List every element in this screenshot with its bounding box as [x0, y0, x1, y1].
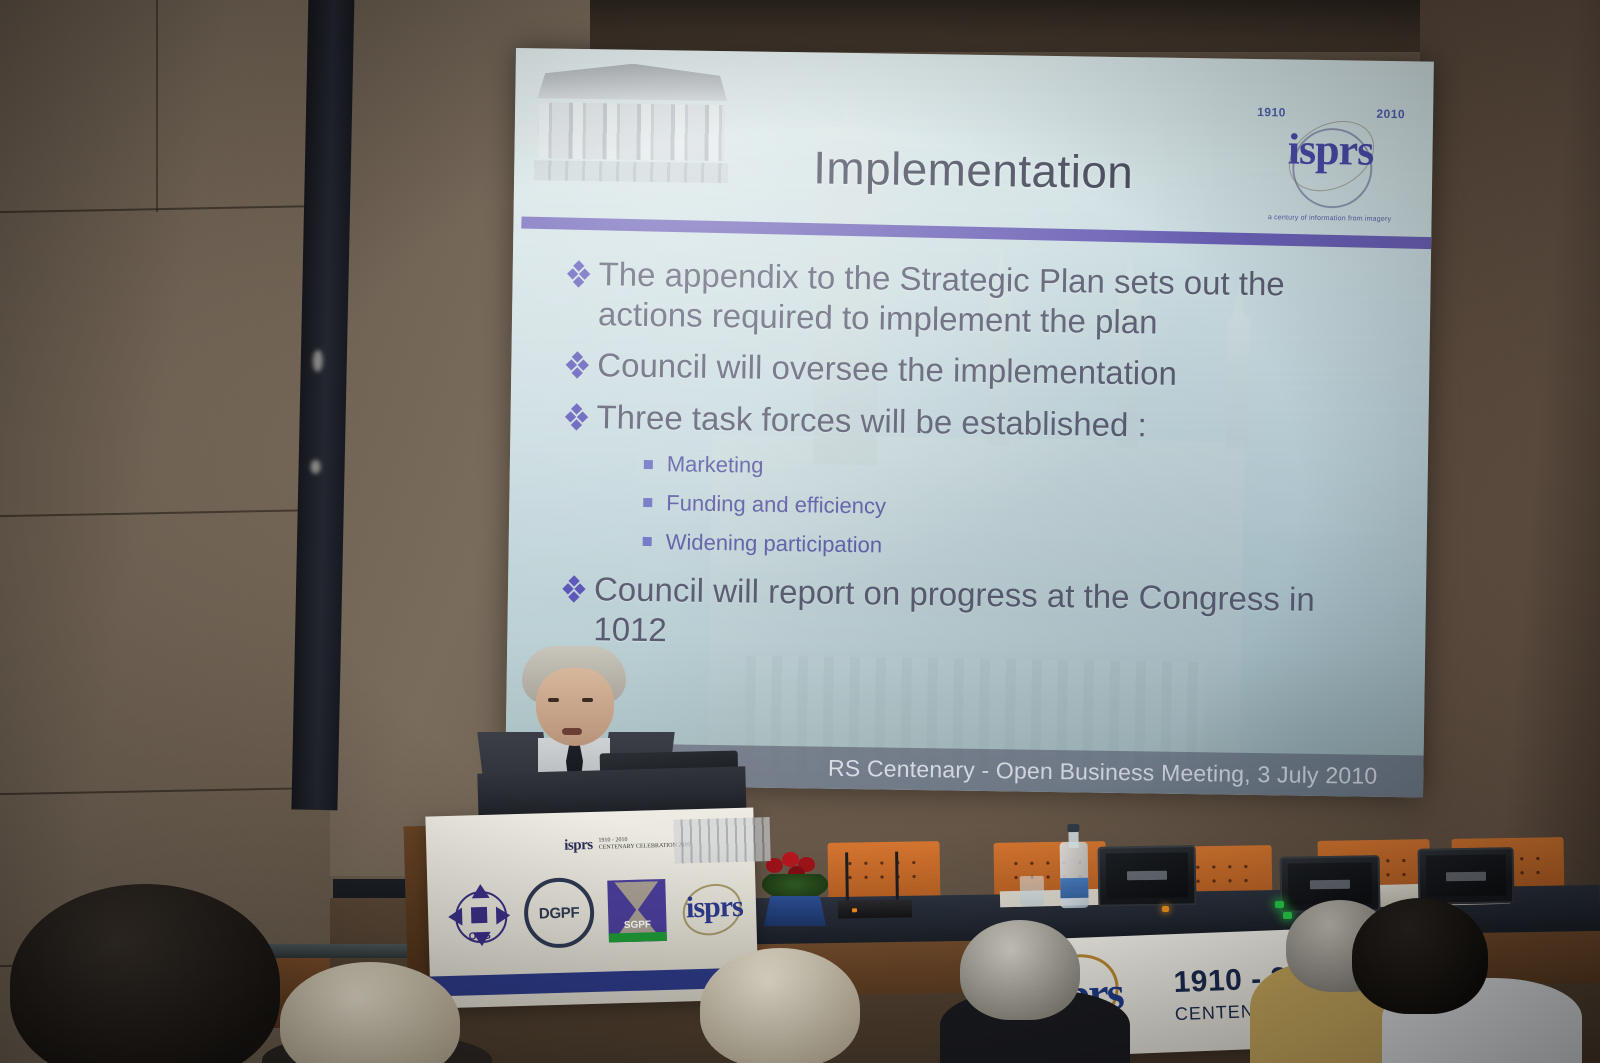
logo-wordmark: isprs [1250, 123, 1411, 176]
square-bullet-icon [643, 537, 652, 546]
water-bottle [1059, 824, 1088, 908]
bullet-text: Council will report on progress at the C… [593, 570, 1392, 661]
audience-head [960, 920, 1080, 1020]
bullet-item: Three task forces will be established : [566, 397, 1394, 449]
sub-bullet-text: Marketing [667, 450, 764, 481]
diamond-bullet-icon [566, 405, 586, 429]
drinking-glass [1020, 876, 1044, 906]
sub-bullet-list: Marketing Funding and efficiency Widenin… [642, 449, 1394, 567]
wall-seam [0, 787, 330, 795]
podium-isprs-wordmark: isprs [564, 836, 593, 854]
receiver-led [852, 908, 857, 912]
eye [548, 698, 559, 702]
ovg-label: OVG [449, 930, 511, 943]
sub-bullet-item: Marketing [644, 449, 1394, 490]
pillar-highlight [313, 350, 323, 372]
slide-body: The appendix to the Strategic Plan sets … [563, 254, 1397, 673]
status-led-green [1283, 912, 1292, 919]
wall-seam [0, 509, 330, 517]
bullet-text: Council will oversee the implementation [597, 345, 1177, 393]
logo-year-start: 1910 [1257, 105, 1286, 119]
square-bullet-icon [644, 460, 653, 469]
sgpf-label: SGPF [608, 919, 666, 932]
bullet-item-final: Council will report on progress at the C… [563, 569, 1392, 660]
sub-bullet-item: Widening participation [642, 527, 1392, 568]
dgpf-logo: DGPF [523, 877, 595, 949]
podium-building-graphic [674, 817, 771, 864]
isprs-podium-wordmark: isprs [686, 890, 744, 926]
sgpf-green-bar [609, 932, 667, 943]
engraving-pediment [537, 62, 728, 101]
wireless-receiver [838, 899, 912, 918]
pillar-highlight [310, 460, 320, 474]
status-led-green [1275, 901, 1284, 908]
sub-bullet-text: Funding and efficiency [666, 488, 886, 521]
laptop [1418, 847, 1515, 905]
ovg-center-square [471, 907, 487, 923]
mouth [562, 728, 582, 735]
isprs-podium-logo: isprs [679, 879, 767, 937]
bottle-body [1060, 842, 1089, 908]
podium-logo-row: OVG DGPF SGPF isprs [447, 870, 749, 954]
podium-isprs-years: 1910 - 2010 [598, 837, 627, 844]
laptop [1098, 845, 1197, 907]
laptop-brand-plate [1127, 871, 1167, 881]
bottle-neck [1068, 830, 1078, 848]
audience-head [700, 948, 860, 1063]
bullet-text: Three task forces will be established : [596, 397, 1147, 445]
flower-arrangement [760, 852, 830, 926]
status-led-amber [1162, 906, 1169, 912]
flower-wrap [764, 896, 826, 926]
wall-groove [156, 0, 158, 212]
bullet-item: Council will oversee the implementation [567, 345, 1395, 397]
bottle-cap [1067, 824, 1079, 832]
ovg-logo: OVG [447, 883, 511, 947]
sub-bullet-text: Widening participation [665, 527, 882, 560]
laptop-brand-plate [1446, 871, 1486, 881]
laptop-lid [1418, 847, 1515, 905]
diamond-bullet-icon [568, 262, 588, 286]
sgpf-logo: SGPF [607, 879, 667, 943]
bullet-item: The appendix to the Strategic Plan sets … [568, 254, 1397, 345]
eye [582, 698, 593, 702]
square-bullet-icon [643, 498, 652, 507]
slide-footer-text: RS Centenary - Open Business Meeting, 3 … [828, 754, 1378, 789]
bullet-text: The appendix to the Strategic Plan sets … [598, 254, 1397, 345]
screenshot-root: Implementation 1910 2010 isprs a century… [0, 0, 1600, 1063]
papers [1000, 889, 1110, 908]
audience-head [1352, 898, 1488, 1014]
isprs-logo: 1910 2010 isprs a century of information… [1250, 105, 1412, 219]
diamond-bullet-icon [564, 577, 584, 601]
laptop-brand-plate [1310, 879, 1350, 889]
podium-front-panel: isprs 1910 - 2010 CENTENARY CELEBRATION … [425, 807, 758, 1008]
bottle-label [1060, 878, 1088, 898]
laptop-lid [1098, 845, 1197, 907]
sub-bullet-item: Funding and efficiency [643, 488, 1393, 529]
wall-seam [0, 205, 330, 213]
right-wall [1420, 0, 1600, 900]
diamond-bullet-icon [567, 353, 587, 377]
logo-year-end: 2010 [1376, 107, 1405, 121]
